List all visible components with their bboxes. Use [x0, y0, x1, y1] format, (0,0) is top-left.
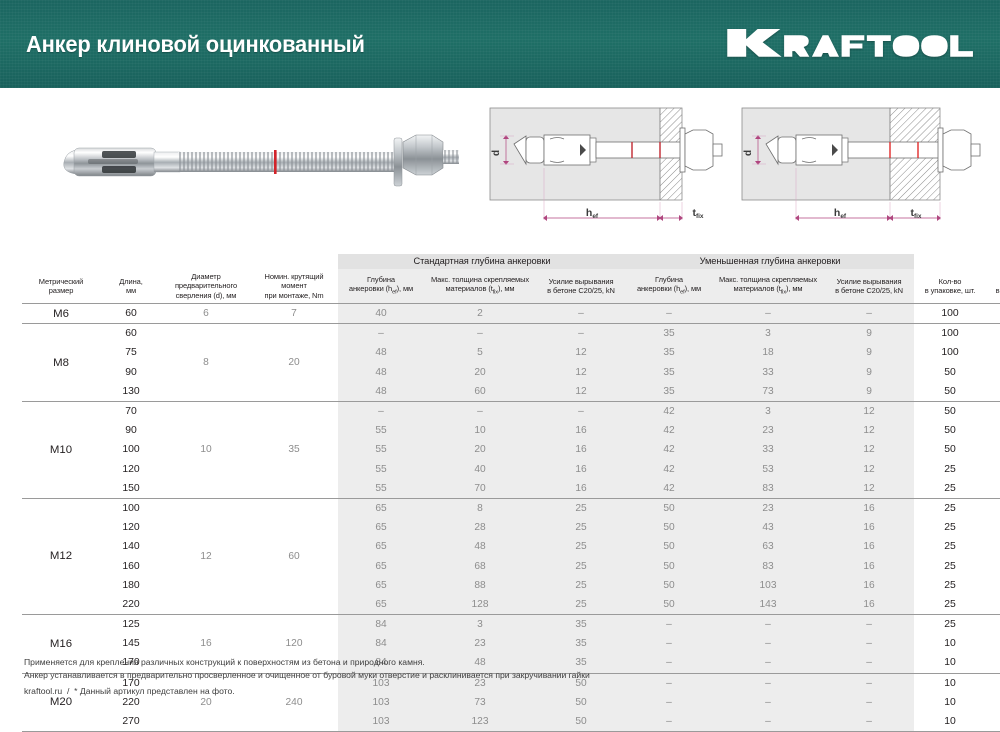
cell-std-force: 25 [536, 498, 626, 518]
cell-quantity: 25 [914, 556, 986, 575]
cell-red-thickness: 18 [712, 343, 824, 362]
table-row: M10701035–––42312502.40302184-10-070 [22, 401, 1000, 421]
cell-std-thickness: 60 [424, 382, 536, 402]
cell-red-depth: 42 [626, 460, 712, 479]
col-head-torque: Номин. крутящиймоментпри монтаже, Nm [250, 269, 338, 304]
cell-quantity: 25 [914, 498, 986, 518]
cell-red-depth: 50 [626, 498, 712, 518]
cell-quantity: 50 [914, 440, 986, 459]
cell-weight: 5.15 [986, 615, 1000, 635]
cell-red-depth: 35 [626, 343, 712, 362]
cell-red-force: 12 [824, 460, 914, 479]
cell-red-depth: 50 [626, 518, 712, 537]
cell-red-thickness: 73 [712, 382, 824, 402]
cell-red-thickness: 83 [712, 479, 824, 499]
cell-quantity: 100 [914, 304, 986, 324]
cell-red-force: – [824, 615, 914, 635]
cell-std-depth: 65 [338, 595, 424, 615]
cell-red-thickness: 23 [712, 498, 824, 518]
cell-std-depth: 48 [338, 382, 424, 402]
cell-red-force: 16 [824, 498, 914, 518]
cell-red-depth: – [626, 712, 712, 732]
cell-weight: 2.94 [986, 343, 1000, 362]
cell-std-force: 35 [536, 634, 626, 653]
cell-std-thickness: 28 [424, 518, 536, 537]
cell-std-depth: 103 [338, 712, 424, 732]
col-head-std-depth: Глубинаанкеровки (hef), мм [338, 269, 424, 304]
cell-std-thickness: 20 [424, 440, 536, 459]
cell-std-depth: 65 [338, 498, 424, 518]
cell-drill-diameter: 10 [162, 401, 250, 498]
cell-std-thickness: 48 [424, 537, 536, 556]
cell-std-thickness: 128 [424, 595, 536, 615]
cell-weight: 1.79 [986, 460, 1000, 479]
cell-weight: 2.52 [986, 324, 1000, 344]
footer-line-2: Анкер устанавливается в предварительно п… [24, 669, 964, 682]
cell-red-thickness: – [712, 615, 824, 635]
site-link[interactable]: kraftool.ru [24, 686, 62, 696]
table-row: M12100126065825502316252.31302184-12-100 [22, 498, 1000, 518]
cell-red-depth: 42 [626, 421, 712, 440]
cell-red-thickness: 3 [712, 324, 824, 344]
cell-red-thickness: 43 [712, 518, 824, 537]
cell-length: 160 [100, 556, 162, 575]
cell-red-force: 12 [824, 401, 914, 421]
cell-weight: 3.32 [986, 556, 1000, 575]
cell-std-depth: – [338, 401, 424, 421]
cell-weight: 5.10 [986, 693, 1000, 712]
cell-red-depth: 50 [626, 595, 712, 615]
cell-red-force: 12 [824, 421, 914, 440]
diagram-standard-depth: d hef tfix [484, 100, 724, 232]
cell-length: 75 [100, 343, 162, 362]
cell-quantity: 25 [914, 615, 986, 635]
cell-quantity: 25 [914, 537, 986, 556]
cell-torque: 20 [250, 324, 338, 402]
cell-quantity: 10 [914, 712, 986, 732]
cell-std-depth: 84 [338, 634, 424, 653]
cell-red-thickness: – [712, 304, 824, 324]
cell-std-depth: 55 [338, 460, 424, 479]
table-row: M161251612084335–––255.15302184-16-125 [22, 615, 1000, 635]
col-head-std-force: Усилие вырыванияв бетоне C20/25, kN [536, 269, 626, 304]
group-header-reduced: Уменьшенная глубина анкеровки [626, 254, 914, 269]
cell-quantity: 25 [914, 576, 986, 595]
cell-weight: 4.09 [986, 673, 1000, 693]
cell-length: 100 [100, 440, 162, 459]
cell-length: 120 [100, 460, 162, 479]
cell-weight: 1.69 [986, 363, 1000, 382]
cell-red-thickness: 103 [712, 576, 824, 595]
cell-weight: 3.04 [986, 537, 1000, 556]
cell-std-force: 12 [536, 382, 626, 402]
footer-line-3: kraftool.ru / * Данный артикул представл… [24, 685, 964, 698]
table-row: M66067402––––1001.33302184-06-060* [22, 304, 1000, 324]
cell-metric-size: M8 [22, 324, 100, 402]
cell-std-thickness: 3 [424, 615, 536, 635]
group-header-row: Стандартная глубина анкеровки Уменьшенна… [22, 254, 1000, 269]
col-head-weight: Весв упаковке, г [986, 269, 1000, 304]
cell-quantity: 50 [914, 421, 986, 440]
cell-std-depth: 65 [338, 576, 424, 595]
col-head-drill-diameter: Диаметрпредварительногосверления (d), мм [162, 269, 250, 304]
label-d: d [743, 150, 754, 156]
label-tfix: tfix [692, 207, 703, 220]
table-row: M860820–––35391002.52302184-08-060 [22, 324, 1000, 344]
cell-red-depth: 42 [626, 401, 712, 421]
cell-std-force: 25 [536, 595, 626, 615]
cell-red-thickness: – [712, 634, 824, 653]
cell-red-thickness: 83 [712, 556, 824, 575]
label-d: d [491, 150, 502, 156]
cell-red-depth: 35 [626, 324, 712, 344]
cell-std-force: 16 [536, 440, 626, 459]
cell-std-force: 12 [536, 363, 626, 382]
cell-metric-size: M10 [22, 401, 100, 498]
red-depth-marker [274, 150, 277, 174]
cell-std-force: 25 [536, 518, 626, 537]
col-head-red-depth: Глубинаанкеровки (hef), мм [626, 269, 712, 304]
cell-red-thickness: 33 [712, 440, 824, 459]
cell-quantity: 50 [914, 363, 986, 382]
kraftool-logo [726, 21, 978, 67]
cell-red-force: 16 [824, 537, 914, 556]
cell-red-force: 9 [824, 382, 914, 402]
cell-std-thickness: 10 [424, 421, 536, 440]
cell-drill-diameter: 8 [162, 324, 250, 402]
cell-torque: 35 [250, 401, 338, 498]
cell-std-thickness: – [424, 401, 536, 421]
cell-std-thickness: 5 [424, 343, 536, 362]
cell-length: 90 [100, 421, 162, 440]
product-illustration-area: d hef tfix [0, 88, 1000, 253]
cell-weight: 3.70 [986, 576, 1000, 595]
cell-std-force: – [536, 324, 626, 344]
cell-std-depth: 84 [338, 615, 424, 635]
cell-std-depth: 40 [338, 304, 424, 324]
cell-red-force: – [824, 304, 914, 324]
cell-std-force: – [536, 401, 626, 421]
cell-std-force: – [536, 304, 626, 324]
cell-std-force: 16 [536, 460, 626, 479]
cell-red-depth: 50 [626, 537, 712, 556]
cell-std-thickness: 20 [424, 363, 536, 382]
cell-red-depth: 42 [626, 440, 712, 459]
cell-length: 60 [100, 324, 162, 344]
cell-std-depth: 48 [338, 363, 424, 382]
cell-std-force: 16 [536, 421, 626, 440]
cell-red-thickness: 63 [712, 537, 824, 556]
table-head: Стандартная глубина анкеровки Уменьшенна… [22, 254, 1000, 304]
col-head-size: Метрическийразмер [22, 269, 100, 304]
cell-red-thickness: – [712, 712, 824, 732]
cell-std-depth: 55 [338, 421, 424, 440]
cell-red-depth: 50 [626, 556, 712, 575]
col-head-quantity: Кол-вов упаковке, шт. [914, 269, 986, 304]
cell-red-thickness: 53 [712, 460, 824, 479]
cell-weight: 4.37 [986, 595, 1000, 615]
cell-quantity: 50 [914, 401, 986, 421]
cell-red-thickness: 143 [712, 595, 824, 615]
cell-std-force: 50 [536, 712, 626, 732]
cell-red-force: 16 [824, 576, 914, 595]
cell-std-thickness: – [424, 324, 536, 344]
page-title: Анкер клиновой оцинкованный [26, 31, 365, 58]
cell-red-force: 16 [824, 556, 914, 575]
cell-std-thickness: 2 [424, 304, 536, 324]
cell-length: 270 [100, 712, 162, 732]
cell-quantity: 100 [914, 343, 986, 362]
label-hef: hef [586, 207, 599, 220]
cell-length: 150 [100, 479, 162, 499]
cell-red-thickness: 3 [712, 401, 824, 421]
cell-red-depth: 35 [626, 382, 712, 402]
cell-quantity: 25 [914, 595, 986, 615]
cell-std-depth: 65 [338, 556, 424, 575]
cell-weight: 2.27 [986, 382, 1000, 402]
page-header-banner: Анкер клиновой оцинкованный [0, 0, 1000, 88]
footer-line-1: Применяется для крепления различных конс… [24, 656, 964, 669]
col-head-red-force: Усилие вырыванияв бетоне C20/25, kN [824, 269, 914, 304]
cell-std-depth: 48 [338, 343, 424, 362]
wedge-anchor-photo [24, 102, 474, 222]
cell-length: 125 [100, 615, 162, 635]
footnote-text: * Данный артикул представлен на фото. [74, 686, 235, 696]
cell-weight: 6.17 [986, 712, 1000, 732]
cell-torque: 60 [250, 498, 338, 614]
cell-std-thickness: 8 [424, 498, 536, 518]
cell-drill-diameter: 12 [162, 498, 250, 614]
cell-red-depth: 50 [626, 576, 712, 595]
cell-weight: 2.31 [986, 498, 1000, 518]
cell-length: 130 [100, 382, 162, 402]
cell-std-force: 16 [536, 479, 626, 499]
cell-std-thickness: 68 [424, 556, 536, 575]
cell-length: 100 [100, 498, 162, 518]
cell-std-force: 12 [536, 343, 626, 362]
cell-length: 220 [100, 595, 162, 615]
cell-weight: 2.13 [986, 479, 1000, 499]
cell-quantity: 25 [914, 479, 986, 499]
group-header-standard: Стандартная глубина анкеровки [338, 254, 626, 269]
cell-std-thickness: 88 [424, 576, 536, 595]
cell-weight: 2.66 [986, 518, 1000, 537]
cell-weight: 2.30 [986, 634, 1000, 653]
cell-red-force: 16 [824, 595, 914, 615]
cell-quantity: 10 [914, 634, 986, 653]
cell-red-depth: – [626, 304, 712, 324]
cell-red-depth: 42 [626, 479, 712, 499]
cell-red-force: 9 [824, 363, 914, 382]
cell-std-depth: 55 [338, 440, 424, 459]
cell-length: 180 [100, 576, 162, 595]
cell-std-depth: 65 [338, 518, 424, 537]
cell-weight: 2.40 [986, 401, 1000, 421]
cell-std-thickness: 70 [424, 479, 536, 499]
cell-quantity: 100 [914, 324, 986, 344]
cell-length: 140 [100, 537, 162, 556]
cell-red-force: 9 [824, 324, 914, 344]
cell-length: 90 [100, 363, 162, 382]
cell-std-thickness: 23 [424, 634, 536, 653]
cell-std-depth: 65 [338, 537, 424, 556]
footer-separator: / [67, 686, 69, 696]
column-header-row: Метрическийразмер Длина,мм Диаметрпредва… [22, 269, 1000, 304]
col-head-std-thickness: Макс. толщина скрепляемыхматериалов (tfi… [424, 269, 536, 304]
cell-std-thickness: 123 [424, 712, 536, 732]
cell-red-thickness: 23 [712, 421, 824, 440]
cell-std-force: 25 [536, 537, 626, 556]
cell-weight: 2.60 [986, 653, 1000, 673]
cell-quantity: 25 [914, 460, 986, 479]
cell-red-force: 12 [824, 440, 914, 459]
cell-torque: 7 [250, 304, 338, 324]
label-hef: hef [834, 207, 847, 220]
cell-metric-size: M6 [22, 304, 100, 324]
cell-std-force: 25 [536, 576, 626, 595]
col-head-length: Длина,мм [100, 269, 162, 304]
cell-red-force: 12 [824, 479, 914, 499]
diagram-reduced-depth: d hef tfix [736, 100, 986, 232]
cell-std-force: 25 [536, 556, 626, 575]
label-tfix: tfix [910, 207, 921, 220]
cell-drill-diameter: 6 [162, 304, 250, 324]
cell-std-force: 35 [536, 615, 626, 635]
cell-weight: 1.33 [986, 304, 1000, 324]
cell-length: 60 [100, 304, 162, 324]
cell-quantity: 50 [914, 382, 986, 402]
cell-length: 145 [100, 634, 162, 653]
cell-metric-size: M12 [22, 498, 100, 614]
cell-length: 70 [100, 401, 162, 421]
cell-std-thickness: 40 [424, 460, 536, 479]
cell-red-thickness: 33 [712, 363, 824, 382]
cell-red-force: 9 [824, 343, 914, 362]
cell-weight: 2.86 [986, 421, 1000, 440]
cell-red-depth: – [626, 634, 712, 653]
cell-red-force: 16 [824, 518, 914, 537]
cell-weight: 3.10 [986, 440, 1000, 459]
cell-std-depth: – [338, 324, 424, 344]
cell-quantity: 25 [914, 518, 986, 537]
col-head-red-thickness: Макс. толщина скрепляемыхматериалов (tfi… [712, 269, 824, 304]
cell-std-depth: 55 [338, 479, 424, 499]
cell-length: 120 [100, 518, 162, 537]
cell-red-force: – [824, 712, 914, 732]
cell-red-depth: 35 [626, 363, 712, 382]
cell-red-force: – [824, 634, 914, 653]
cell-red-depth: – [626, 615, 712, 635]
footer-notes: Применяется для крепления различных конс… [24, 656, 964, 698]
